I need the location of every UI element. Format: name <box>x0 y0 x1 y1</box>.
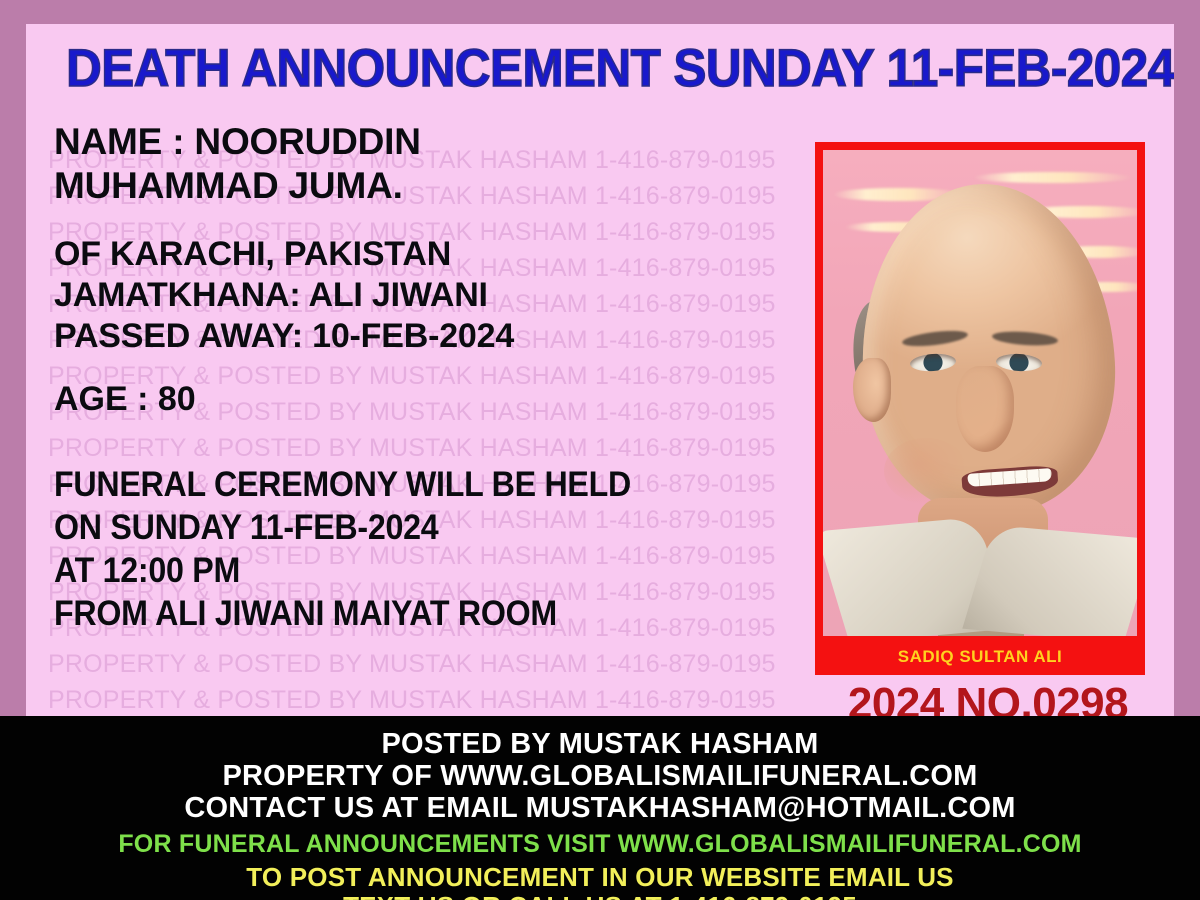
origin-block: OF KARACHI, PAKISTAN JAMATKHANA: ALI JIW… <box>54 234 844 357</box>
footer-posted-by: POSTED BY MUSTAK HASHAM <box>0 722 1200 759</box>
footer-banner: POSTED BY MUSTAK HASHAM PROPERTY OF WWW.… <box>0 716 1200 900</box>
footer-visit-website: FOR FUNERAL ANNOUNCEMENTS VISIT WWW.GLOB… <box>0 823 1200 857</box>
name-line-1: NAME : NOORUDDIN <box>54 120 844 164</box>
spacer-3 <box>54 419 844 463</box>
origin-line: OF KARACHI, PAKISTAN <box>54 234 844 275</box>
jamatkhana-line: JAMATKHANA: ALI JIWANI <box>54 275 844 316</box>
cheek-shading <box>884 438 968 504</box>
funeral-line-2: ON SUNDAY 11-FEB-2024 <box>54 506 781 549</box>
footer-post-announcement: TO POST ANNOUNCEMENT IN OUR WEBSITE EMAI… <box>0 857 1200 890</box>
age-block: AGE : 80 <box>54 379 844 419</box>
page-title: DEATH ANNOUNCEMENT SUNDAY 11-FEB-2024 <box>66 38 1134 99</box>
spacer-2 <box>54 357 844 379</box>
funeral-line-3: AT 12:00 PM <box>54 549 781 592</box>
name-block: NAME : NOORUDDIN MUHAMMAD JUMA. <box>54 120 844 208</box>
name-line-2: MUHAMMAD JUMA. <box>54 164 844 208</box>
passed-away-line: PASSED AWAY: 10-FEB-2024 <box>54 316 844 357</box>
portrait-photo <box>823 150 1137 636</box>
deceased-details: NAME : NOORUDDIN MUHAMMAD JUMA. OF KARAC… <box>54 120 844 635</box>
reference-number: 2024 NO.0298 <box>815 679 1161 716</box>
footer-contact-email: CONTACT US AT EMAIL MUSTAKHASHAM@HOTMAIL… <box>0 791 1200 823</box>
spacer-1 <box>54 208 844 234</box>
funeral-line-1: FUNERAL CEREMONY WILL BE HELD <box>54 463 781 506</box>
funeral-line-4: FROM ALI JIWANI MAIYAT ROOM <box>54 592 781 635</box>
teeth <box>967 468 1052 487</box>
portrait-frame: SADIQ SULTAN ALI <box>815 142 1145 675</box>
watermark-row: PROPERTY & POSTED BY MUSTAK HASHAM 1-416… <box>48 650 776 679</box>
photo-caption: SADIQ SULTAN ALI <box>823 642 1137 672</box>
cloud-shape <box>973 172 1133 183</box>
funeral-block: FUNERAL CEREMONY WILL BE HELD ON SUNDAY … <box>54 463 844 635</box>
death-announcement-poster: PROPERTY & POSTED BY MUSTAK HASHAM 1-416… <box>0 0 1200 900</box>
footer-property-of: PROPERTY OF WWW.GLOBALISMAILIFUNERAL.COM <box>0 759 1200 791</box>
age-line: AGE : 80 <box>54 379 844 419</box>
footer-phone: TEXT US OR CALL US AT 1-416-879-0195 <box>0 890 1200 900</box>
nose <box>956 366 1014 452</box>
watermark-row: PROPERTY & POSTED BY MUSTAK HASHAM 1-416… <box>48 686 776 715</box>
ear-left <box>853 358 891 422</box>
announcement-card: PROPERTY & POSTED BY MUSTAK HASHAM 1-416… <box>26 24 1174 716</box>
